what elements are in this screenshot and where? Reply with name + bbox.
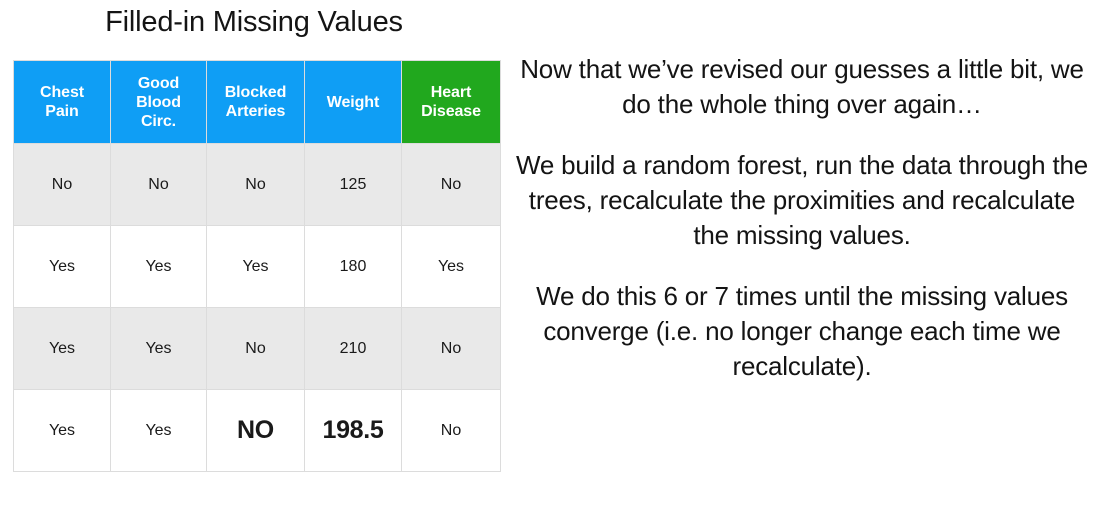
table-cell: Yes [111, 308, 207, 390]
table-cell: 180 [305, 226, 402, 308]
table-header-row: Chest Pain Good Blood Circ. Blocked Arte… [14, 61, 501, 144]
filled-in-missing-values-table: Chest Pain Good Blood Circ. Blocked Arte… [13, 60, 501, 472]
table-cell: Yes [14, 308, 111, 390]
narration-paragraph-3: We do this 6 or 7 times until the missin… [512, 279, 1092, 384]
filled-in-missing-values-table-wrapper: Chest Pain Good Blood Circ. Blocked Arte… [13, 60, 495, 472]
column-header-good-blood-circ: Good Blood Circ. [111, 61, 207, 144]
table-row: Yes Yes Yes 180 Yes [14, 226, 501, 308]
column-header-heart-disease: Heart Disease [402, 61, 501, 144]
table-cell: No [207, 144, 305, 226]
left-panel: Filled-in Missing Values Chest Pain Good… [0, 0, 510, 518]
table-body: No No No 125 No Yes Yes Yes 180 Yes [14, 144, 501, 472]
table-header: Chest Pain Good Blood Circ. Blocked Arte… [14, 61, 501, 144]
column-header-good-blood-circ-line2: Blood [111, 93, 206, 112]
column-header-heart-disease-line1: Heart [402, 83, 500, 102]
column-header-blocked-arteries-line2: Arteries [207, 102, 304, 121]
column-header-blocked-arteries-line1: Blocked [207, 83, 304, 102]
table-cell-imputed-blocked-arteries: NO [207, 390, 305, 472]
narration-panel: Now that we’ve revised our guesses a lit… [512, 52, 1092, 384]
column-header-chest-pain-line2: Pain [14, 102, 110, 121]
column-header-good-blood-circ-line1: Good [111, 74, 206, 93]
table-cell-imputed-weight: 198.5 [305, 390, 402, 472]
page-title: Filled-in Missing Values [0, 5, 508, 39]
table-cell: Yes [111, 390, 207, 472]
column-header-weight: Weight [305, 61, 402, 144]
table-row: Yes Yes NO 198.5 No [14, 390, 501, 472]
narration-paragraph-1: Now that we’ve revised our guesses a lit… [512, 52, 1092, 122]
table-row: Yes Yes No 210 No [14, 308, 501, 390]
table-cell: No [402, 308, 501, 390]
table-cell: 125 [305, 144, 402, 226]
slide-root: Filled-in Missing Values Chest Pain Good… [0, 0, 1104, 518]
column-header-chest-pain: Chest Pain [14, 61, 111, 144]
column-header-good-blood-circ-line3: Circ. [111, 112, 206, 131]
column-header-heart-disease-line2: Disease [402, 102, 500, 121]
table-cell: Yes [207, 226, 305, 308]
table-row: No No No 125 No [14, 144, 501, 226]
column-header-weight-line1: Weight [305, 93, 401, 112]
table-cell: No [402, 144, 501, 226]
column-header-chest-pain-line1: Chest [14, 83, 110, 102]
table-cell: No [207, 308, 305, 390]
column-header-blocked-arteries: Blocked Arteries [207, 61, 305, 144]
table-cell: No [111, 144, 207, 226]
table-cell: 210 [305, 308, 402, 390]
table-cell: Yes [402, 226, 501, 308]
table-cell: No [14, 144, 111, 226]
table-cell: No [402, 390, 501, 472]
table-cell: Yes [14, 390, 111, 472]
table-cell: Yes [14, 226, 111, 308]
table-cell: Yes [111, 226, 207, 308]
narration-paragraph-2: We build a random forest, run the data t… [512, 148, 1092, 253]
